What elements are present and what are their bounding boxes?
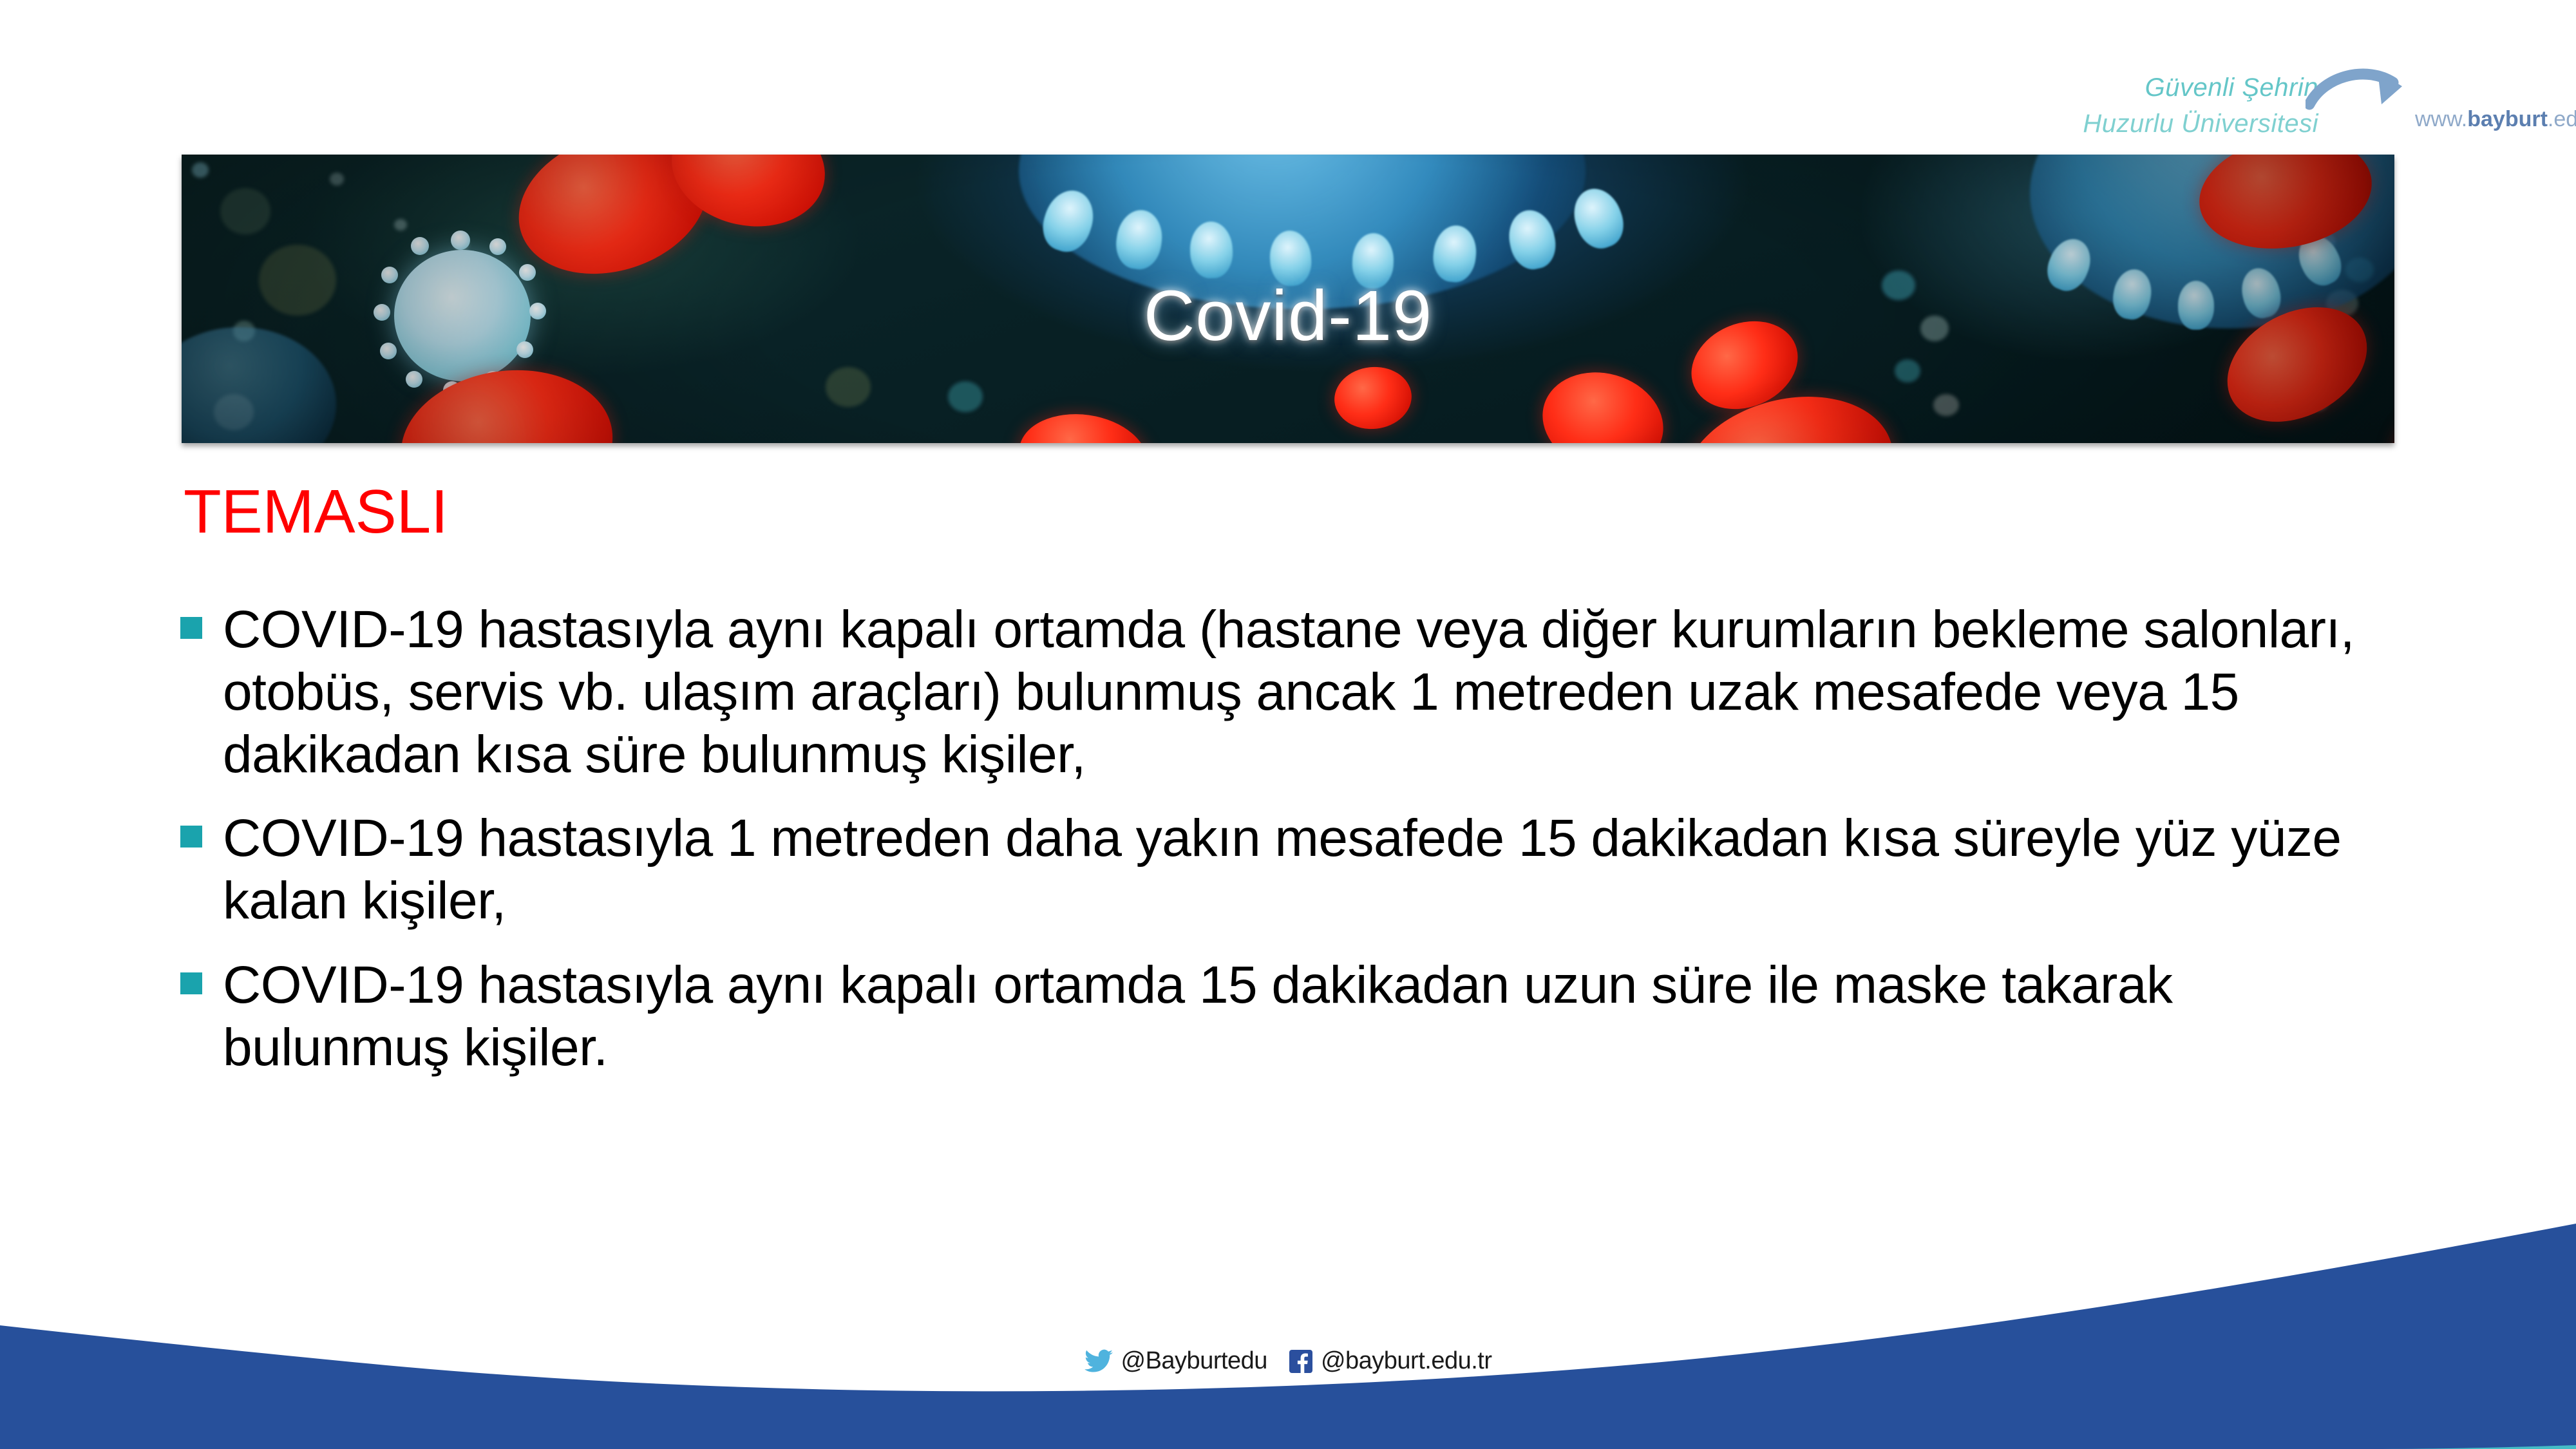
bokeh-dot <box>394 219 407 231</box>
bokeh-dot <box>220 188 270 234</box>
facebook-link[interactable]: @bayburt.edu.tr <box>1289 1347 1492 1375</box>
url-suffix: .edu.tr <box>2548 107 2576 131</box>
covid-banner-image: Covid-19 <box>182 155 2394 443</box>
footer-social-bar: @Bayburtedu @bayburt.edu.tr <box>0 1347 2576 1375</box>
curved-arrow-icon <box>2306 64 2421 122</box>
virus-spike <box>519 264 536 281</box>
red-blood-cell <box>1531 359 1675 443</box>
url-prefix: www. <box>2415 107 2467 131</box>
bullet-square-icon <box>180 826 202 848</box>
bokeh-dot <box>826 367 871 407</box>
bokeh-dot <box>330 173 344 185</box>
banner-caption: Covid-19 <box>182 281 2394 352</box>
list-item: COVID-19 hastasıyla 1 metreden daha yakı… <box>180 808 2383 933</box>
bokeh-dot <box>192 162 209 178</box>
logo-slogan: Güvenli Şehrin Huzurlu Üniversitesi <box>2022 70 2318 142</box>
page-title: TEMASLI <box>184 480 448 545</box>
virus-spike <box>406 371 422 388</box>
bullet-list: COVID-19 hastasıyla aynı kapalı ortamda … <box>180 599 2383 1101</box>
red-blood-cell <box>2379 383 2394 443</box>
twitter-bird-icon <box>1084 1349 1113 1374</box>
list-item-text: COVID-19 hastasıyla aynı kapalı ortamda … <box>223 954 2383 1079</box>
list-item-text: COVID-19 hastasıyla 1 metreden daha yakı… <box>223 808 2383 933</box>
url-brand: bayburt <box>2467 107 2548 131</box>
red-blood-cell <box>1331 363 1414 433</box>
virus-spike <box>489 238 506 255</box>
university-logo: Güvenli Şehrin Huzurlu Üniversitesi www.… <box>2022 70 2486 147</box>
bokeh-dot <box>1933 394 1959 416</box>
bullet-square-icon <box>180 972 202 994</box>
red-blood-cell <box>1014 406 1153 443</box>
slide-canvas: Güvenli Şehrin Huzurlu Üniversitesi www.… <box>0 0 2576 1449</box>
logo-slogan-line-1: Güvenli Şehrin <box>2022 70 2318 106</box>
virus-spike <box>451 231 470 250</box>
list-item: COVID-19 hastasıyla aynı kapalı ortamda … <box>180 954 2383 1079</box>
bokeh-dot <box>948 381 983 412</box>
blue-wave-shape <box>0 1224 2576 1449</box>
list-item: COVID-19 hastasıyla aynı kapalı ortamda … <box>180 599 2383 786</box>
twitter-handle: @Bayburtedu <box>1121 1347 1267 1375</box>
bullet-square-icon <box>180 617 202 639</box>
twitter-link[interactable]: @Bayburtedu <box>1084 1347 1267 1375</box>
facebook-f-icon <box>1289 1350 1312 1373</box>
list-item-text: COVID-19 hastasıyla aynı kapalı ortamda … <box>223 599 2383 786</box>
logo-slogan-line-2: Huzurlu Üniversitesi <box>2022 106 2318 142</box>
logo-website-url: www.bayburt.edu.tr <box>2415 107 2576 132</box>
bokeh-dot <box>1895 359 1920 383</box>
facebook-handle: @bayburt.edu.tr <box>1321 1347 1492 1375</box>
virus-spike <box>411 237 429 255</box>
